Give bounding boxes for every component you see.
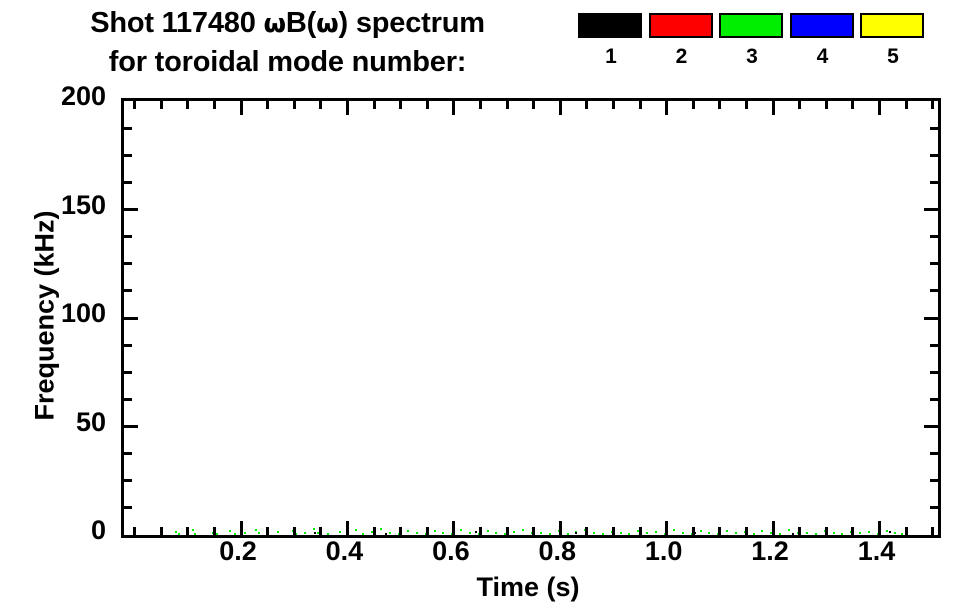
x-tick-bottom xyxy=(745,527,748,535)
omega-symbol-2: ω xyxy=(316,9,338,39)
y-tick-right xyxy=(930,398,938,401)
x-tick-bottom xyxy=(373,527,376,535)
x-tick-top xyxy=(825,101,828,109)
x-tick-bottom xyxy=(798,527,801,535)
x-axis-title: Time (s) xyxy=(428,572,628,603)
x-tick-bottom xyxy=(186,527,189,535)
x-tick-bottom xyxy=(851,527,854,535)
data-point-n3 xyxy=(255,529,257,531)
data-point-n3 xyxy=(682,532,684,534)
data-point-n3 xyxy=(194,533,196,535)
y-tick-left xyxy=(124,208,138,211)
data-point-n3 xyxy=(886,530,888,532)
title-line-2: for toroidal mode number: xyxy=(0,43,575,81)
x-tick-bottom xyxy=(240,521,243,535)
legend: 12345 xyxy=(578,13,938,89)
x-tick-label: 1.2 xyxy=(720,536,820,567)
x-tick-top xyxy=(160,101,163,109)
x-tick-label: 1.4 xyxy=(826,536,926,567)
y-tick-right xyxy=(930,371,938,374)
y-tick-right xyxy=(930,289,938,292)
data-point-n3 xyxy=(788,529,790,531)
legend-entry-1[interactable]: 1 xyxy=(578,13,644,68)
data-point-n3 xyxy=(833,532,835,534)
y-tick-right xyxy=(930,506,938,509)
data-point-n3 xyxy=(407,530,409,532)
x-tick-label: 0.2 xyxy=(188,536,288,567)
y-tick-left xyxy=(124,235,132,238)
x-tick-top xyxy=(639,101,642,109)
legend-swatch-5 xyxy=(860,13,924,38)
y-tick-right xyxy=(930,452,938,455)
y-tick-right xyxy=(930,235,938,238)
y-tick-right xyxy=(930,262,938,265)
legend-entry-5[interactable]: 5 xyxy=(860,13,926,68)
data-point-n3 xyxy=(859,532,861,534)
data-point-n1 xyxy=(314,532,316,534)
data-point-n3 xyxy=(216,533,218,535)
x-tick-top xyxy=(133,101,136,109)
data-point-n3 xyxy=(761,530,763,532)
x-tick-top xyxy=(851,101,854,109)
data-point-n3 xyxy=(495,532,497,534)
y-tick-right xyxy=(924,208,938,211)
data-point-n3 xyxy=(313,528,315,530)
legend-label-5: 5 xyxy=(860,46,926,68)
x-tick-top xyxy=(452,101,455,115)
x-tick-top xyxy=(506,101,509,109)
data-point-n1 xyxy=(889,531,891,533)
data-point-n3 xyxy=(442,532,444,534)
x-tick-bottom xyxy=(532,527,535,535)
data-point-n3 xyxy=(192,529,194,531)
data-point-n3 xyxy=(901,533,903,535)
data-point-n3 xyxy=(646,532,648,534)
x-tick-top xyxy=(373,101,376,109)
y-tick-label: 200 xyxy=(20,81,106,112)
data-point-n3 xyxy=(513,531,515,533)
page-title: Shot 117480 ωB(ω) spectrum for toroidal … xyxy=(0,4,575,81)
data-point-n3 xyxy=(753,533,755,535)
data-point-n3 xyxy=(178,533,180,535)
data-point-n3 xyxy=(258,532,260,534)
x-tick-bottom xyxy=(346,521,349,535)
x-tick-top xyxy=(213,101,216,109)
y-tick-left xyxy=(124,262,132,265)
x-tick-bottom xyxy=(160,527,163,535)
data-point-n3 xyxy=(567,533,569,535)
data-point-n3 xyxy=(700,530,702,532)
data-point-n3 xyxy=(469,532,471,534)
x-tick-bottom xyxy=(559,521,562,535)
y-tick-left xyxy=(124,127,132,130)
x-tick-top xyxy=(585,101,588,109)
data-point-n3 xyxy=(355,529,357,531)
x-tick-top xyxy=(293,101,296,109)
y-tick-left xyxy=(124,506,132,509)
x-tick-bottom xyxy=(612,527,615,535)
plot-screenshot: Shot 117480 ωB(ω) spectrum for toroidal … xyxy=(0,0,963,615)
x-tick-top xyxy=(426,101,429,109)
y-tick-left xyxy=(124,398,132,401)
data-point-n3 xyxy=(806,532,808,534)
y-tick-left xyxy=(124,181,132,184)
legend-swatch-4 xyxy=(790,13,854,38)
x-tick-top xyxy=(399,101,402,109)
x-tick-bottom xyxy=(506,527,509,535)
data-point-n3 xyxy=(234,533,236,535)
data-point-n3 xyxy=(487,530,489,532)
data-point-n3 xyxy=(416,532,418,534)
data-point-n3 xyxy=(628,533,630,535)
y-tick-label: 100 xyxy=(20,298,106,329)
data-point-n3 xyxy=(540,532,542,534)
x-tick-top xyxy=(718,101,721,109)
x-tick-bottom xyxy=(931,527,934,535)
data-point-n3 xyxy=(841,533,843,535)
x-tick-label: 0.6 xyxy=(401,536,501,567)
x-tick-bottom xyxy=(399,527,402,535)
x-tick-bottom xyxy=(479,527,482,535)
plot-frame xyxy=(121,98,941,538)
data-point-n3 xyxy=(593,532,595,534)
x-tick-bottom xyxy=(639,527,642,535)
x-tick-top xyxy=(931,101,934,109)
legend-swatch-1 xyxy=(578,13,642,38)
x-tick-bottom xyxy=(585,527,588,535)
data-point-n3 xyxy=(735,532,737,534)
data-point-n1 xyxy=(792,533,794,535)
x-tick-top xyxy=(745,101,748,109)
x-tick-bottom xyxy=(665,521,668,535)
y-tick-right xyxy=(930,127,938,130)
y-tick-right xyxy=(924,425,938,428)
data-point-n3 xyxy=(673,529,675,531)
legend-swatch-2 xyxy=(649,13,713,38)
y-tick-right xyxy=(930,181,938,184)
x-tick-label: 1.0 xyxy=(614,536,714,567)
title-line-1: Shot 117480 ωB(ω) spectrum xyxy=(0,4,575,43)
x-tick-bottom xyxy=(825,527,828,535)
x-tick-bottom xyxy=(293,527,296,535)
title-spectrum-text: ) spectrum xyxy=(339,7,485,39)
y-tick-left xyxy=(124,479,132,482)
data-point-n1 xyxy=(475,531,477,533)
y-tick-left xyxy=(124,344,132,347)
y-tick-right xyxy=(930,479,938,482)
x-tick-bottom xyxy=(133,527,136,535)
x-tick-label: 0.4 xyxy=(294,536,394,567)
x-tick-bottom xyxy=(266,527,269,535)
data-point-n3 xyxy=(655,531,657,533)
x-tick-top xyxy=(798,101,801,109)
data-point-n1 xyxy=(575,532,577,534)
data-point-n3 xyxy=(779,533,781,535)
data-point-n3 xyxy=(327,533,329,535)
y-tick-right xyxy=(924,317,938,320)
y-tick-right xyxy=(930,344,938,347)
data-point-n3 xyxy=(620,532,622,534)
data-point-n3 xyxy=(602,533,604,535)
legend-swatch-3 xyxy=(719,13,783,38)
x-tick-bottom xyxy=(718,527,721,535)
data-point-n3 xyxy=(229,530,231,532)
y-tick-left xyxy=(124,154,132,157)
x-tick-top xyxy=(346,101,349,115)
legend-label-3: 3 xyxy=(719,46,785,68)
x-tick-bottom xyxy=(692,527,695,535)
x-tick-top xyxy=(532,101,535,109)
data-point-n3 xyxy=(380,528,382,530)
data-point-n3 xyxy=(304,532,306,534)
y-tick-left xyxy=(124,371,132,374)
data-point-n1 xyxy=(385,533,387,535)
x-tick-bottom xyxy=(772,521,775,535)
legend-label-4: 4 xyxy=(790,46,856,68)
x-tick-top xyxy=(905,101,908,109)
data-point-n3 xyxy=(894,532,896,534)
y-tick-left xyxy=(124,289,132,292)
y-tick-left xyxy=(124,317,138,320)
data-point-n3 xyxy=(434,530,436,532)
x-tick-bottom xyxy=(213,527,216,535)
legend-entry-4[interactable]: 4 xyxy=(790,13,856,68)
omega-symbol-1: ω xyxy=(264,9,286,39)
data-point-n3 xyxy=(726,530,728,532)
x-tick-bottom xyxy=(905,527,908,535)
x-tick-bottom xyxy=(452,521,455,535)
y-tick-right xyxy=(930,154,938,157)
plot-data-area xyxy=(124,101,938,535)
data-point-n3 xyxy=(522,529,524,531)
x-tick-top xyxy=(266,101,269,109)
x-tick-bottom xyxy=(878,521,881,535)
y-tick-label: 50 xyxy=(20,407,106,438)
x-tick-top xyxy=(479,101,482,109)
x-tick-top xyxy=(186,101,189,109)
data-point-n3 xyxy=(362,533,364,535)
x-tick-top xyxy=(240,101,243,115)
y-tick-label: 0 xyxy=(20,515,106,546)
legend-entry-2[interactable]: 2 xyxy=(649,13,715,68)
data-point-n3 xyxy=(175,531,177,533)
x-tick-top xyxy=(665,101,668,115)
y-tick-label: 150 xyxy=(20,190,106,221)
y-tick-left xyxy=(124,425,138,428)
x-tick-label: 0.8 xyxy=(507,536,607,567)
x-tick-top xyxy=(692,101,695,109)
x-tick-top xyxy=(319,101,322,109)
x-tick-bottom xyxy=(426,527,429,535)
data-point-n3 xyxy=(708,532,710,534)
data-point-n3 xyxy=(244,532,246,534)
title-b-open: B( xyxy=(286,7,316,39)
x-tick-top xyxy=(559,101,562,115)
title-shot-text: Shot 117480 xyxy=(90,7,263,39)
data-point-n3 xyxy=(815,533,817,535)
y-tick-left xyxy=(124,452,132,455)
legend-entry-3[interactable]: 3 xyxy=(719,13,785,68)
data-point-n3 xyxy=(868,531,870,533)
data-point-n3 xyxy=(549,533,551,535)
data-point-n3 xyxy=(389,532,391,534)
x-tick-top xyxy=(612,101,615,109)
data-point-n3 xyxy=(460,529,462,531)
legend-label-1: 1 xyxy=(578,46,644,68)
legend-label-2: 2 xyxy=(649,46,715,68)
x-tick-top xyxy=(878,101,881,115)
x-tick-top xyxy=(772,101,775,115)
x-tick-bottom xyxy=(319,527,322,535)
data-point-n3 xyxy=(339,531,341,533)
data-point-n3 xyxy=(277,531,279,533)
